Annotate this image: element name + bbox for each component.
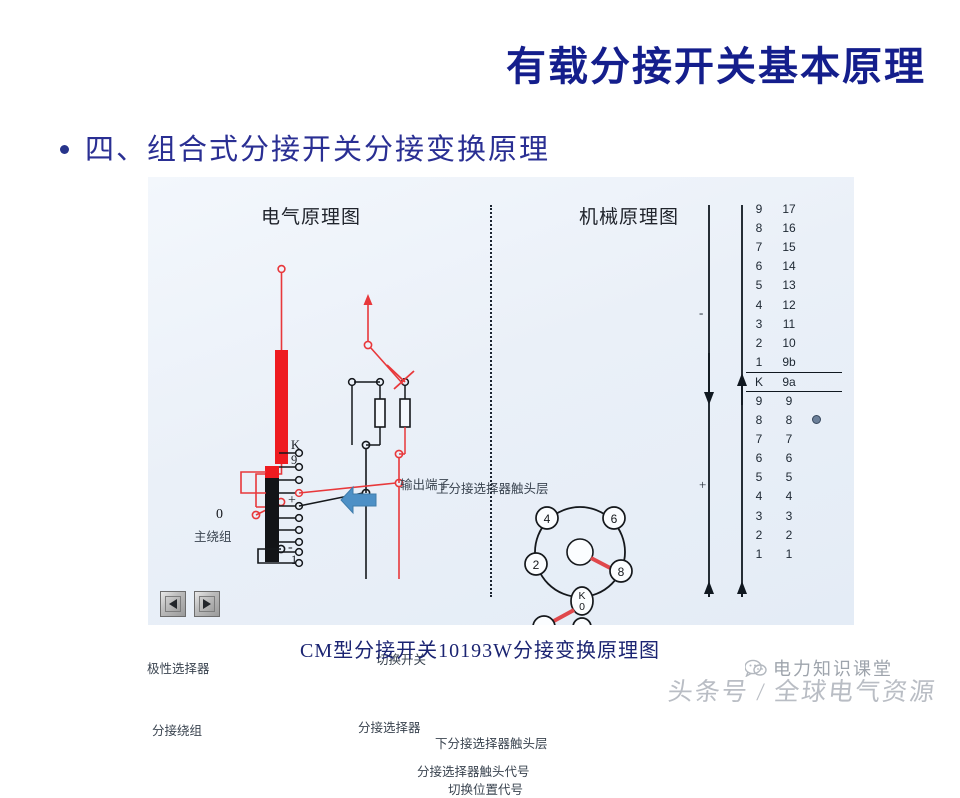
main-winding-top-terminal (278, 266, 285, 273)
code-table-position: 13 (772, 278, 806, 292)
prev-button[interactable] (160, 591, 186, 617)
code-table-contact: 3 (746, 509, 772, 523)
code-table-marker (806, 415, 826, 424)
code-table-row: 66 (746, 448, 842, 467)
polarity-mark-plus: + (288, 493, 296, 509)
navigation-buttons[interactable] (160, 591, 220, 617)
tap-selector-red-arm (299, 483, 396, 493)
code-table-row: 44 (746, 487, 842, 506)
code-table-row: 412 (746, 295, 842, 314)
code-table-row: 715 (746, 237, 842, 256)
code-table-contact: 5 (746, 470, 772, 484)
code-table-contact: 1 (746, 547, 772, 561)
table-side-mark-plus: + (699, 477, 706, 493)
code-table-position: 9a (772, 375, 806, 389)
code-table-contact: 5 (746, 278, 772, 292)
upper-contact-2: 2 (533, 558, 540, 572)
code-table-position: 14 (772, 259, 806, 273)
upper-selector-dial: 4 6 2 8 K 0 (525, 507, 632, 615)
code-table-position: 11 (772, 317, 806, 331)
watermark-wechat: 电力知识课堂 (745, 655, 893, 681)
down-arrow-icon (704, 392, 714, 405)
svg-text:-: - (580, 621, 584, 625)
code-table-contact: 7 (746, 240, 772, 254)
code-table-contact: 9 (746, 202, 772, 216)
next-button[interactable] (194, 591, 220, 617)
code-table-contact: 1 (746, 355, 772, 369)
tap-terminal-dots (296, 450, 303, 567)
code-table-contact: 2 (746, 336, 772, 350)
code-table-row: 99 (746, 391, 842, 410)
mechanical-schematic-group: 4 6 2 8 K 0 + - (500, 205, 747, 625)
polarity-mark-minus: - (288, 540, 293, 556)
code-table-position: 7 (772, 432, 806, 446)
bullet-row: 四、组合式分接开关分接变换原理 (60, 126, 550, 168)
code-table-rails (704, 205, 747, 597)
code-table-row: 210 (746, 333, 842, 352)
code-table-contact: 3 (746, 317, 772, 331)
upper-contact-8: 8 (618, 565, 625, 579)
code-table-position: 4 (772, 489, 806, 503)
tap-label-9: 9 (291, 453, 297, 467)
slide-canvas: 有载分接开关基本原理 四、组合式分接开关分接变换原理 电气原理图 机械原理图 (0, 0, 960, 720)
output-arrow-icon (364, 294, 373, 305)
code-table-row: 513 (746, 276, 842, 295)
figure-panel: 电气原理图 机械原理图 (148, 177, 854, 625)
bullet-dot-icon (60, 145, 69, 154)
code-table-row: 917 (746, 199, 842, 218)
tap-label-k: K (291, 438, 300, 452)
code-table-position: 10 (772, 336, 806, 350)
code-table-position: 9b (772, 355, 806, 369)
code-table-contact: 9 (746, 394, 772, 408)
code-table-row: 22 (746, 525, 842, 544)
code-table-contact: 6 (746, 451, 772, 465)
code-table-position: 16 (772, 221, 806, 235)
label-upper-contact-layer: 上分接选择器触头层 (436, 478, 549, 497)
code-table-row: 55 (746, 468, 842, 487)
code-table-position: 12 (772, 298, 806, 312)
code-table: 91781671561451341231121019bK9a9988776655… (746, 199, 842, 599)
upper-dial-hub (567, 539, 593, 565)
polarity-mark-zero: 0 (216, 507, 223, 523)
upper-contact-4: 4 (544, 512, 551, 526)
electrical-schematic-group: K 9 1 (241, 266, 414, 579)
code-table-contact: 2 (746, 528, 772, 542)
upper-contact-0: 0 (579, 601, 585, 613)
code-table-contact: 4 (746, 298, 772, 312)
label-code-contact: 分接选择器触头代号 (417, 761, 530, 780)
code-table-row: K9a (746, 372, 842, 391)
label-lower-contact-layer: 下分接选择器触头层 (435, 733, 548, 752)
code-table-position: 2 (772, 528, 806, 542)
label-main-winding: 主绕组 (194, 526, 232, 545)
output-terminal-group (364, 294, 415, 389)
code-table-position: 6 (772, 451, 806, 465)
triangle-left-icon (169, 599, 177, 609)
code-table-position: 15 (772, 240, 806, 254)
code-table-position: 17 (772, 202, 806, 216)
code-table-row: 33 (746, 506, 842, 525)
table-side-mark-minus: - (699, 305, 703, 321)
code-table-row: 77 (746, 429, 842, 448)
code-table-position: 3 (772, 509, 806, 523)
label-tap-winding: 分接绕组 (152, 720, 202, 739)
callout-arrow-icon (341, 487, 376, 513)
page-title: 有载分接开关基本原理 (506, 34, 926, 92)
code-table-contact: 6 (746, 259, 772, 273)
upper-contact-6: 6 (611, 512, 618, 526)
code-table-row: 816 (746, 218, 842, 237)
svg-text:+: + (540, 621, 547, 625)
bullet-text: 四、组合式分接开关分接变换原理 (85, 126, 550, 168)
code-table-contact: 7 (746, 432, 772, 446)
current-position-indicator (812, 415, 821, 424)
code-table-contact: 8 (746, 221, 772, 235)
code-table-contact: K (746, 375, 772, 389)
code-table-position: 8 (772, 413, 806, 427)
code-table-position: 9 (772, 394, 806, 408)
triangle-right-icon (203, 599, 211, 609)
watermark-wechat-text: 电力知识课堂 (773, 655, 893, 681)
code-table-row: 19b (746, 353, 842, 372)
wechat-icon (745, 659, 767, 677)
code-table-row: 11 (746, 544, 842, 563)
code-table-contact: 4 (746, 489, 772, 503)
code-table-row: 88 (746, 410, 842, 429)
code-table-position: 5 (772, 470, 806, 484)
code-table-row: 614 (746, 257, 842, 276)
diverter-resistors (349, 379, 410, 454)
label-code-position: 切换位置代号 (448, 779, 523, 798)
code-table-row: 311 (746, 314, 842, 333)
code-table-position: 1 (772, 547, 806, 561)
code-table-contact: 8 (746, 413, 772, 427)
main-winding-bar (275, 350, 288, 464)
